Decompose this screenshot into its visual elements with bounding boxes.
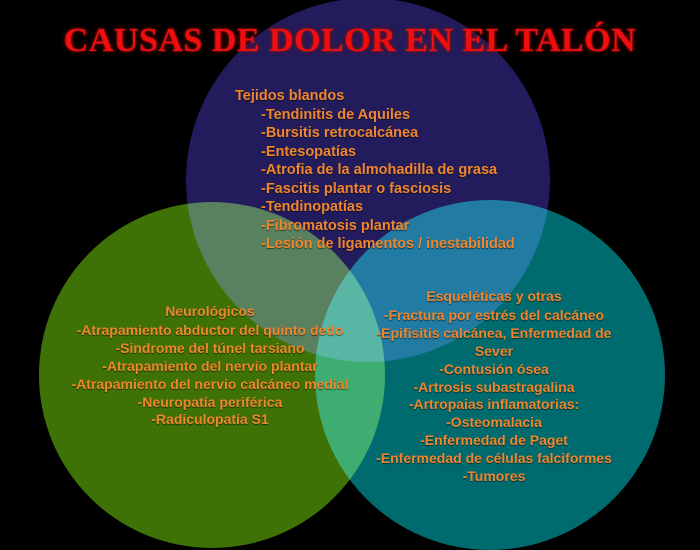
soft-tissue-heading: Tejidos blandos <box>235 87 565 106</box>
list-item: -Tendinopatías <box>235 198 565 217</box>
list-item: -Fractura por estrés del calcáneo <box>360 307 628 325</box>
skeletal-text-block: Esqueléticas y otras -Fractura por estré… <box>360 288 628 486</box>
list-item: -Atrapamiento abductor del quinto dedo <box>30 322 390 340</box>
list-item: -Bursitis retrocalcánea <box>235 124 565 143</box>
list-item: -Fibromatosis plantar <box>235 217 565 236</box>
list-item: -Tendinitis de Aquiles <box>235 106 565 125</box>
soft-tissue-text-block: Tejidos blandos -Tendinitis de Aquiles -… <box>235 87 565 254</box>
list-item: -Tumores <box>360 468 628 486</box>
list-item: -Contusión ósea <box>360 361 628 379</box>
neurological-text-block: Neurológicos -Atrapamiento abductor del … <box>30 303 390 429</box>
list-item: -Enfermedad de células falciformes <box>360 450 628 468</box>
list-item: -Enfermedad de Paget <box>360 432 628 450</box>
list-item: -Artropaias inflamatorias: <box>360 396 628 414</box>
list-item: -Entesopatías <box>235 143 565 162</box>
list-item: -Neuropatía periférica <box>30 394 390 412</box>
list-item: -Sindrome del túnel tarsiano <box>30 340 390 358</box>
list-item: -Radiculopatía S1 <box>30 411 390 429</box>
slide-canvas: CAUSAS DE DOLOR EN EL TALÓN Tejidos blan… <box>0 0 700 527</box>
list-item: -Atrapamiento del nervio calcáneo medial <box>30 376 390 394</box>
skeletal-heading: Esqueléticas y otras <box>360 288 628 306</box>
list-item: -Epifisitis calcánea, Enfermedad de Seve… <box>360 325 628 361</box>
neurological-heading: Neurológicos <box>30 303 390 321</box>
list-item: -Atrapamiento del nervio plantar <box>30 358 390 376</box>
list-item: -Lesión de ligamentos / inestabilidad <box>235 235 565 254</box>
list-item: -Artrosis subastragalina <box>360 379 628 397</box>
list-item: -Osteomalacia <box>360 414 628 432</box>
list-item: -Atrofia de la almohadilla de grasa <box>235 161 565 180</box>
list-item: -Fascitis plantar o fasciosis <box>235 180 565 199</box>
page-title: CAUSAS DE DOLOR EN EL TALÓN <box>0 22 700 60</box>
